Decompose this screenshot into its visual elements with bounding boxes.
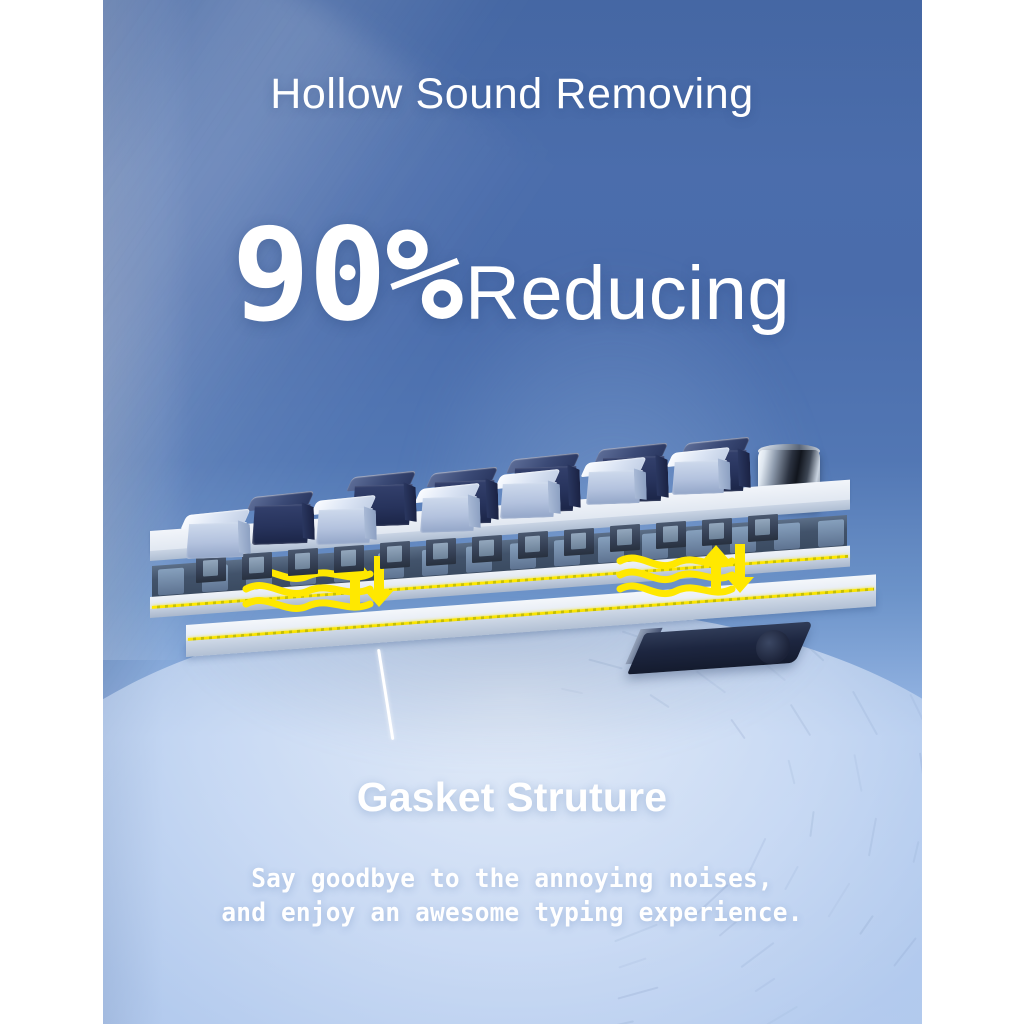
switch-stem: [525, 536, 541, 553]
key-switch: [656, 521, 686, 549]
keycap-side-face: [634, 468, 647, 500]
switch-stem: [203, 560, 219, 577]
keycap: [584, 459, 644, 505]
switch-stem: [387, 546, 403, 563]
keycap-side-face: [485, 478, 498, 520]
keycap-side-face: [238, 520, 251, 554]
keycap-side-face: [655, 454, 669, 498]
key-switch: [610, 524, 640, 552]
keycap-side-face: [302, 502, 315, 540]
switch-stem: [663, 526, 679, 543]
keycap-side-face: [548, 480, 561, 514]
stat-block: 90%Reducing: [0, 212, 1024, 340]
switch-stem: [617, 529, 633, 546]
keycap: [184, 511, 248, 559]
keycap: [498, 471, 558, 519]
feature-description-line2: and enjoy an awesome typing experience.: [31, 896, 994, 930]
keycap-side-face: [567, 464, 581, 508]
key-switch: [196, 555, 226, 583]
keycap-side-face: [403, 482, 416, 522]
switch-stem: [755, 519, 771, 536]
gasket-cell: [818, 519, 844, 547]
keycap: [314, 497, 374, 545]
key-switch: [702, 518, 732, 546]
keycap-side-face: [468, 494, 481, 528]
switch-stem: [433, 543, 449, 560]
key-switch: [380, 541, 410, 569]
product-poster: Hollow Sound Removing 90%Reducing Gasket…: [0, 0, 1024, 1024]
switch-stem: [249, 556, 265, 573]
key-switch: [518, 531, 548, 559]
key-switch: [288, 548, 318, 576]
stat-word: Reducing: [465, 256, 790, 332]
key-switch: [472, 535, 502, 563]
switch-stem: [341, 549, 357, 566]
key-switch: [426, 538, 456, 566]
key-switch: [334, 545, 364, 573]
switch-stem: [571, 532, 587, 549]
keycap: [670, 449, 728, 495]
gasket-cell: [158, 568, 184, 596]
feature-description-line1: Say goodbye to the annoying noises,: [31, 862, 994, 896]
switch-stem: [479, 539, 495, 556]
keycap-side-face: [718, 458, 731, 490]
page-title: Hollow Sound Removing: [0, 70, 1024, 119]
key-switch: [748, 514, 778, 542]
keycap-side-face: [737, 448, 750, 488]
feature-description: Say goodbye to the annoying noises, and …: [0, 862, 1024, 931]
stat-number: 90%: [232, 212, 462, 340]
keycap-side-face: [364, 506, 377, 540]
arrow-updown-icon-right: [700, 544, 758, 594]
key-switch: [564, 528, 594, 556]
switch-stem: [709, 522, 725, 539]
feature-title: Gasket Struture: [0, 774, 1024, 821]
switch-stem: [295, 553, 311, 570]
keycap: [250, 493, 312, 545]
keycap: [418, 485, 478, 533]
